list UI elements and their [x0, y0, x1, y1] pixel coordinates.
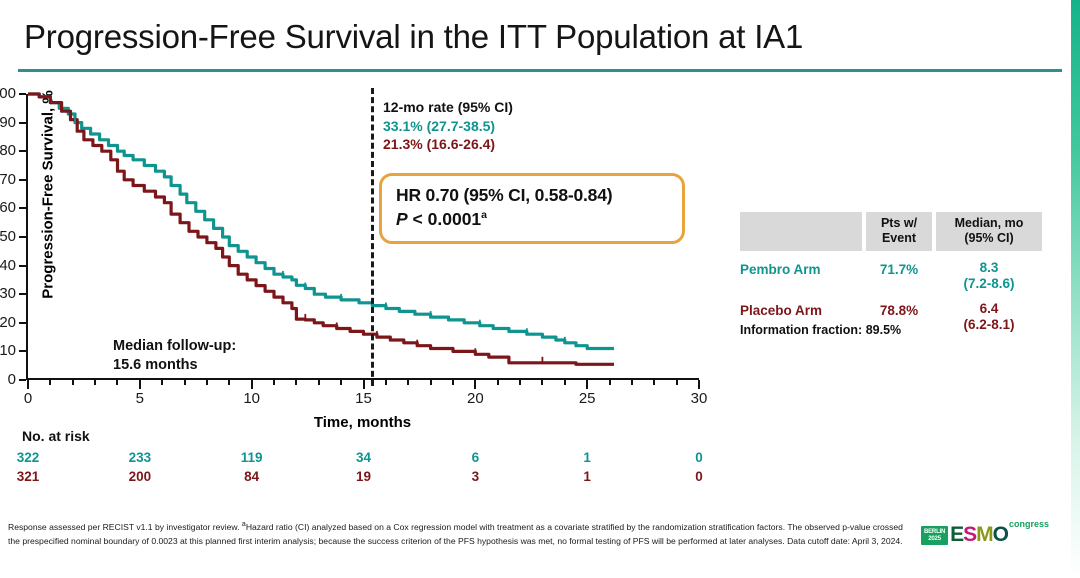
- at-risk-pembro-value: 6: [447, 450, 503, 465]
- esmo-congress-label: congress: [1009, 519, 1049, 529]
- number-at-risk-title: No. at risk: [22, 428, 90, 444]
- esmo-letter-s: S: [963, 523, 976, 546]
- esmo-berlin-line2: 2025: [924, 536, 945, 542]
- median-followup-annotation: Median follow-up: 15.6 months: [113, 337, 236, 375]
- table-header-row: Pts w/ Event Median, mo (95% CI): [740, 212, 1042, 251]
- median-followup-value: 15.6 months: [113, 356, 236, 375]
- at-risk-pembro-value: 1: [559, 450, 615, 465]
- p-value-footnote-marker: a: [481, 209, 487, 221]
- esmo-congress-logo: BERLIN 2025 ESMO congress: [921, 519, 1049, 545]
- footnote-part1: Response assessed per RECIST v1.1 by inv…: [8, 522, 242, 532]
- at-risk-placebo-value: 19: [336, 469, 392, 484]
- esmo-letter-m: M: [976, 523, 993, 546]
- at-risk-placebo-value: 3: [447, 469, 503, 484]
- row-median-ci: (6.2-8.1): [936, 317, 1042, 333]
- esmo-wordmark: ESMO: [950, 525, 1008, 545]
- at-risk-pembro-value: 0: [671, 450, 727, 465]
- title-divider: [18, 69, 1062, 72]
- header-median-line2: (95% CI): [938, 231, 1040, 246]
- header-median-line1: Median, mo: [938, 216, 1040, 231]
- row-pts-w-event: 78.8%: [866, 301, 932, 318]
- at-risk-placebo-value: 0: [671, 469, 727, 484]
- at-risk-pembro-value: 119: [224, 450, 280, 465]
- rate-value-pembro: 33.1% (27.7-38.5): [383, 117, 513, 136]
- at-risk-placebo-value: 84: [224, 469, 280, 484]
- header-pts-line2: Event: [868, 231, 930, 246]
- edge-accent-strip: [1071, 0, 1080, 578]
- at-risk-placebo-value: 200: [112, 469, 168, 484]
- footnote: Response assessed per RECIST v1.1 by inv…: [8, 519, 906, 549]
- row-pts-w-event: 71.7%: [866, 260, 932, 277]
- row-arm-label: Pembro Arm: [740, 260, 862, 277]
- esmo-berlin-line1: BERLIN: [924, 529, 945, 535]
- row-median-value: 8.3: [936, 260, 1042, 276]
- at-risk-placebo-value: 1: [559, 469, 615, 484]
- twelve-month-rate-annotation: 12-mo rate (95% CI) 33.1% (27.7-38.5) 21…: [383, 98, 513, 154]
- rate-header: 12-mo rate (95% CI): [383, 98, 513, 117]
- p-value: < 0.0001: [408, 209, 481, 229]
- row-median: 6.4 (6.2-8.1): [936, 301, 1042, 333]
- table-header-median: Median, mo (95% CI): [936, 212, 1042, 251]
- hazard-ratio-text: HR 0.70 (95% CI, 0.58-0.84): [396, 185, 668, 206]
- row-median: 8.3 (7.2-8.6): [936, 260, 1042, 292]
- row-median-value: 6.4: [936, 301, 1042, 317]
- header-pts-line1: Pts w/: [868, 216, 930, 231]
- table-header-pts-with-event: Pts w/ Event: [866, 212, 932, 251]
- esmo-berlin-badge: BERLIN 2025: [921, 526, 948, 545]
- row-median-ci: (7.2-8.6): [936, 276, 1042, 292]
- information-fraction-text: Information fraction: 89.5%: [740, 323, 901, 337]
- table-header-blank: [740, 212, 862, 251]
- at-risk-pembro-value: 34: [336, 450, 392, 465]
- page-title: Progression-Free Survival in the ITT Pop…: [24, 18, 803, 56]
- rate-value-placebo: 21.3% (16.6-26.4): [383, 135, 513, 154]
- summary-table: Pts w/ Event Median, mo (95% CI) Pembro …: [740, 212, 1042, 333]
- twelve-month-marker-line: [371, 88, 374, 386]
- row-arm-label: Placebo Arm: [740, 301, 862, 318]
- median-followup-label: Median follow-up:: [113, 337, 236, 356]
- at-risk-pembro-value: 233: [112, 450, 168, 465]
- esmo-letter-o: O: [993, 523, 1008, 546]
- at-risk-placebo-value: 321: [0, 469, 56, 484]
- p-italic: P: [396, 209, 408, 229]
- hazard-ratio-callout: HR 0.70 (95% CI, 0.58-0.84) P < 0.0001a: [379, 173, 685, 244]
- esmo-letter-e: E: [950, 523, 963, 546]
- p-value-text: P < 0.0001a: [396, 209, 668, 230]
- table-row: Pembro Arm 71.7% 8.3 (7.2-8.6): [740, 260, 1042, 292]
- at-risk-pembro-value: 322: [0, 450, 56, 465]
